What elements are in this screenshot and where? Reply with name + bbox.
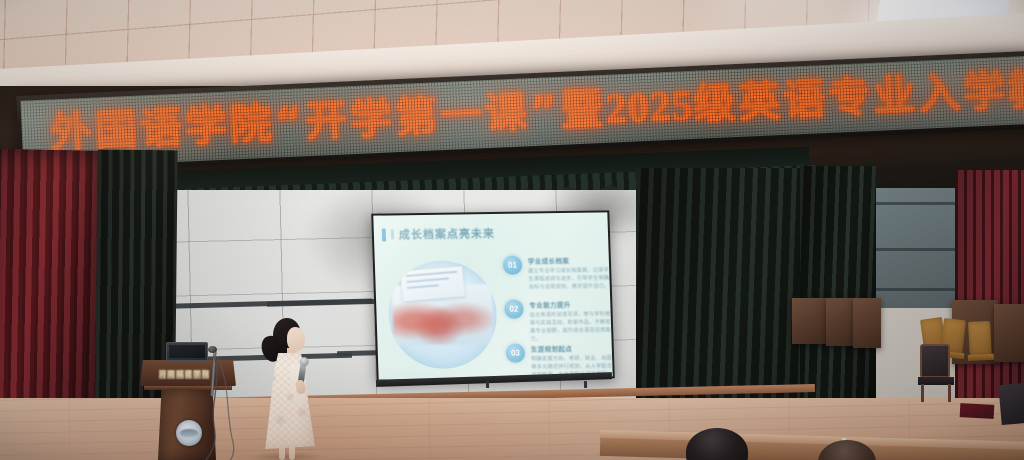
wooden-cabinet xyxy=(792,298,828,344)
floor-red-cloth xyxy=(960,403,995,419)
slide-item-text: 学业成长档案 建立专业学习成长档案袋，记录学生课程成绩与进步，引导学生明确目标与… xyxy=(528,254,610,291)
chair-back xyxy=(920,344,950,378)
presenter-leg xyxy=(279,444,285,460)
screen-hook xyxy=(486,381,489,388)
slide-title-accent-bar xyxy=(382,228,386,241)
presenter-leg xyxy=(289,444,295,460)
stage-curtain-red-right xyxy=(955,170,1024,418)
doc-line xyxy=(407,284,439,289)
chair-leg xyxy=(921,384,924,402)
slide-item-body: 结合英语听说读写译，参与学科竞赛与实践活动，积累作品，不断拓展专业视野，提升综合… xyxy=(530,310,612,343)
slide-item: 02 专业能力提升 结合英语听说读写译，参与学科竞赛与实践活动，积累作品，不断拓… xyxy=(504,298,611,344)
dark-upholstered-chair xyxy=(918,344,956,402)
slide-item-heading: 专业能力提升 xyxy=(529,298,610,309)
lectern: 河 南 城 建 学 院 xyxy=(140,342,236,460)
slide-item-number-badge: 03 xyxy=(506,344,526,363)
wooden-cabinet xyxy=(853,298,881,348)
slide-item-text: 专业能力提升 结合英语听说读写译，参与学科竞赛与实践活动，积累作品，不断拓展专业… xyxy=(529,298,611,343)
slide-item: 01 学业成长档案 建立专业学习成长档案袋，记录学生课程成绩与进步，引导学生明确… xyxy=(503,254,610,292)
led-text-segment-5: 级英语专业入学教育 xyxy=(692,61,1024,128)
slide-circular-image xyxy=(387,260,499,369)
wooden-cabinet xyxy=(994,304,1024,362)
auditorium-scene: 外国语学院“开学第一课”暨2025级英语专业入学教育 成长档案点亮未来 xyxy=(0,0,1024,460)
screen-hook xyxy=(584,381,587,388)
speaker-with-microphone xyxy=(254,318,326,460)
slide-document-graphic xyxy=(400,266,465,301)
mic-cable xyxy=(140,342,260,460)
wooden-cabinet xyxy=(826,298,856,346)
led-text-segment-3: 暨 xyxy=(560,83,607,134)
chair-leg xyxy=(948,384,951,402)
led-text-year: 2025 xyxy=(605,82,695,132)
floor-dark-object xyxy=(998,383,1024,425)
slide-item-number-badge: 02 xyxy=(504,300,524,319)
doc-line xyxy=(406,277,449,283)
chair-back xyxy=(968,321,992,356)
led-text-segment-1: 外国语学院 xyxy=(49,98,276,157)
slide-item-body: 建立专业学习成长档案袋，记录学生课程成绩与进步，引导学生明确目标与自我规划，稳步… xyxy=(528,266,610,291)
slide-title-accent-bar-small xyxy=(391,229,394,239)
led-text-segment-2: “开学第一课” xyxy=(274,85,562,147)
slide-title-row: 成长档案点亮未来 xyxy=(382,225,496,243)
presenter-legs xyxy=(278,444,298,460)
slide-item-heading: 学业成长档案 xyxy=(528,254,609,265)
doc-line xyxy=(406,271,458,277)
slide-item-number-badge: 01 xyxy=(503,256,523,275)
slide-canvas: 成长档案点亮未来 01 学业成长档案 建立专业学习成长档案袋，记录学生课程成绩与… xyxy=(373,212,612,379)
projection-screen: 成长档案点亮未来 01 学业成长档案 建立专业学习成长档案袋，记录学生课程成绩与… xyxy=(371,210,615,381)
slide-title: 成长档案点亮未来 xyxy=(399,225,496,242)
slide-item-heading: 生涯规划起点 xyxy=(531,342,612,353)
